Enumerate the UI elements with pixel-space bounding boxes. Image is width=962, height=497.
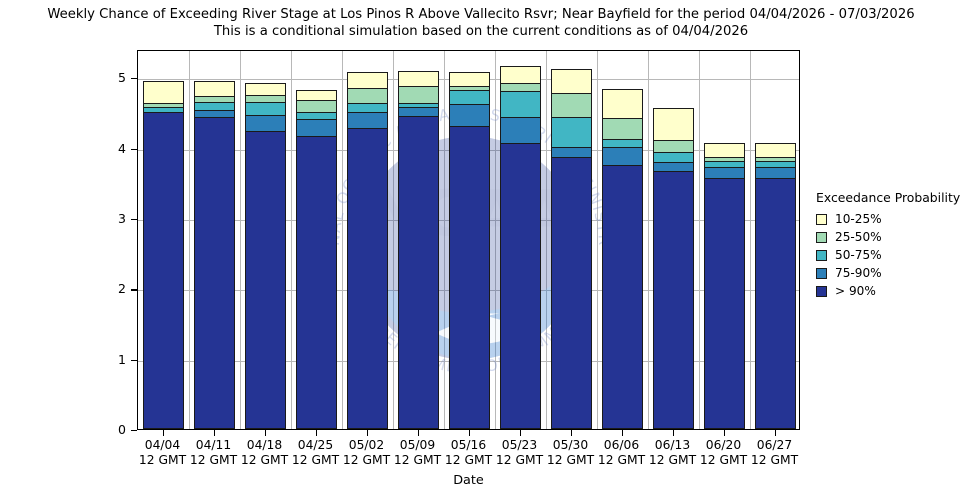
x-axis-tick [673, 430, 674, 436]
legend-item-label: 25-50% [835, 230, 882, 244]
stacked-bar[interactable] [602, 49, 644, 429]
x-axis-tick [724, 430, 725, 436]
bar-segment [245, 131, 287, 429]
bar-segment [551, 157, 593, 429]
x-axis-tick [316, 430, 317, 436]
legend-title: Exceedance Probability [816, 190, 962, 205]
chart-title-line-2: This is a conditional simulation based o… [0, 23, 962, 40]
legend-item[interactable]: 50-75% [816, 246, 962, 264]
stacked-bar[interactable] [398, 49, 440, 429]
bar-segment [194, 117, 236, 429]
y-axis-tick-label: 5 [96, 70, 126, 85]
stacked-bar[interactable] [653, 49, 695, 429]
x-axis-tick [367, 430, 368, 436]
x-axis-tick [520, 430, 521, 436]
y-axis-tick [131, 219, 137, 220]
bar-segment [500, 143, 542, 429]
legend-swatch-icon [816, 286, 827, 297]
legend-item[interactable]: 25-50% [816, 228, 962, 246]
legend-swatch-icon [816, 250, 827, 261]
legend-item-label: 50-75% [835, 248, 882, 262]
x-axis-tick-label: 06/2712 GMT [730, 438, 820, 468]
bar-series-container [138, 51, 799, 429]
x-axis-tick [214, 430, 215, 436]
legend-item[interactable]: 75-90% [816, 264, 962, 282]
legend-item-label: > 90% [835, 284, 876, 298]
bar-segment [755, 178, 797, 429]
stacked-bar[interactable] [551, 49, 593, 429]
bar-segment [449, 126, 491, 429]
legend-swatch-icon [816, 268, 827, 279]
y-axis-tick-label: 1 [96, 352, 126, 367]
legend-item[interactable]: > 90% [816, 282, 962, 300]
stacked-bar[interactable] [500, 49, 542, 429]
stacked-bar[interactable] [296, 49, 338, 429]
stacked-bar[interactable] [449, 49, 491, 429]
x-axis-tick-date: 06/27 [730, 438, 820, 453]
y-axis-tick-label: 2 [96, 281, 126, 296]
y-axis-tick-label: 0 [96, 422, 126, 437]
bar-segment [347, 128, 389, 429]
legend-swatch-icon [816, 232, 827, 243]
x-axis-tick [469, 430, 470, 436]
y-axis-tick [131, 430, 137, 431]
stacked-bar[interactable] [347, 49, 389, 429]
bar-segment [296, 136, 338, 429]
bar-segment [602, 165, 644, 429]
legend-item-label: 10-25% [835, 212, 882, 226]
x-axis-tick [265, 430, 266, 436]
chart-title-line-1: Weekly Chance of Exceeding River Stage a… [0, 6, 962, 23]
x-axis-tick [622, 430, 623, 436]
legend-item[interactable]: 10-25% [816, 210, 962, 228]
x-axis-label: Date [137, 473, 800, 488]
plot-area: NOAA NATIONAL OCEANIC AND ATMOSPHERIC AD… [137, 50, 800, 430]
stacked-bar[interactable] [194, 49, 236, 429]
x-axis-tick [418, 430, 419, 436]
legend-item-label: 75-90% [835, 266, 882, 280]
legend: Exceedance Probability 10-25%25-50%50-75… [816, 190, 962, 300]
bar-segment [143, 112, 185, 429]
y-axis-tick-label: 3 [96, 211, 126, 226]
y-axis-tick-label: 4 [96, 141, 126, 156]
bar-segment [704, 178, 746, 429]
stacked-bar[interactable] [755, 49, 797, 429]
chart-title: Weekly Chance of Exceeding River Stage a… [0, 6, 962, 40]
y-axis-tick [131, 78, 137, 79]
x-axis-tick-time: 12 GMT [730, 453, 820, 468]
x-axis-tick [571, 430, 572, 436]
y-axis-tick [131, 149, 137, 150]
x-axis-tick [775, 430, 776, 436]
stacked-bar[interactable] [143, 49, 185, 429]
bar-segment [398, 116, 440, 429]
stacked-bar[interactable] [704, 49, 746, 429]
y-axis-tick [131, 360, 137, 361]
stacked-bar[interactable] [245, 49, 287, 429]
legend-swatch-icon [816, 214, 827, 225]
legend-rows: 10-25%25-50%50-75%75-90%> 90% [816, 210, 962, 300]
y-axis-tick [131, 289, 137, 290]
x-axis-tick [163, 430, 164, 436]
bar-segment [653, 171, 695, 429]
